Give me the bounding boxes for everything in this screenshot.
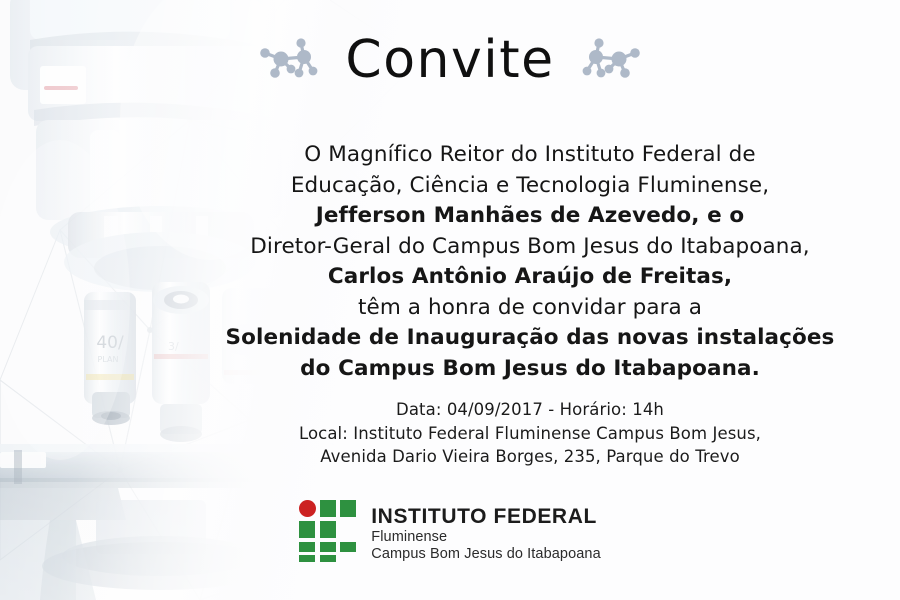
instituto-federal-logo-mark-icon xyxy=(299,500,357,562)
title-row: Convite xyxy=(0,34,900,86)
body-line-rector-name: Jefferson Manhães de Azevedo, e o xyxy=(180,201,880,232)
event-datetime: Data: 04/09/2017 - Horário: 14h xyxy=(180,398,880,422)
body-line-director-name: Carlos Antônio Araújo de Freitas, xyxy=(180,262,880,293)
molecule-cluster-icon-left xyxy=(255,37,327,83)
invitation-body: O Magnífico Reitor do Instituto Federal … xyxy=(180,140,880,384)
institution-logo: INSTITUTO FEDERAL Fluminense Campus Bom … xyxy=(0,500,900,563)
event-details: Data: 04/09/2017 - Horário: 14h Local: I… xyxy=(180,398,880,469)
molecule-cluster-icon-right xyxy=(573,37,645,83)
logo-unit-name: Fluminense xyxy=(371,529,601,546)
page-title: Convite xyxy=(345,34,554,86)
body-line: têm a honra de convidar para a xyxy=(180,293,880,324)
body-line-event-title-cont: do Campus Bom Jesus do Itabapoana. xyxy=(180,354,880,385)
logo-text-block: INSTITUTO FEDERAL Fluminense Campus Bom … xyxy=(371,500,601,563)
event-address: Avenida Dario Vieira Borges, 235, Parque… xyxy=(180,445,880,469)
body-line: Diretor-Geral do Campus Bom Jesus do Ita… xyxy=(180,232,880,263)
event-location: Local: Instituto Federal Fluminense Camp… xyxy=(180,422,880,446)
invitation-card: 40/ PLAN 3/ xyxy=(0,0,900,600)
body-line-event-title: Solenidade de Inauguração das novas inst… xyxy=(180,323,880,354)
body-line: Educação, Ciência e Tecnologia Fluminens… xyxy=(180,171,880,202)
body-line: O Magnífico Reitor do Instituto Federal … xyxy=(180,140,880,171)
logo-institution-name: INSTITUTO FEDERAL xyxy=(371,504,601,529)
logo-campus-name: Campus Bom Jesus do Itabapoana xyxy=(371,546,601,563)
